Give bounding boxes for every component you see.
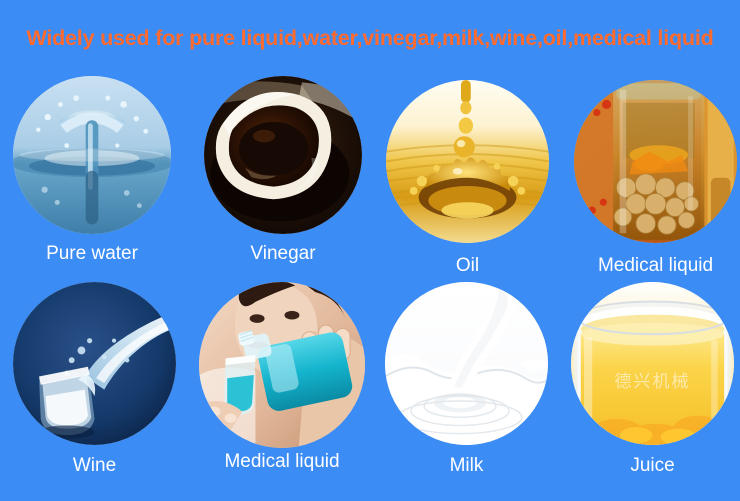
medical-liquid-mouthwash-image [199, 282, 365, 448]
product-cell-medical-liquid-jar: Medical liquid [574, 80, 737, 243]
water-splash-icon [13, 76, 171, 234]
wine-image [13, 282, 176, 445]
banner-headline: Widely used for pure liquid,water,vinega… [0, 28, 740, 50]
caption-wine: Wine [13, 456, 176, 475]
juice-glass-icon [571, 282, 734, 445]
pouring-glass-icon [13, 282, 176, 445]
promo-banner: Widely used for pure liquid,water,vinega… [0, 0, 740, 501]
pure-water-image [13, 76, 171, 234]
product-cell-juice: 德兴机械 Juice [571, 282, 734, 445]
vinegar-image [204, 76, 362, 234]
caption-milk: Milk [385, 456, 548, 475]
caption-medical-liquid-jar: Medical liquid [574, 256, 737, 275]
product-cell-wine: Wine [13, 282, 176, 445]
juice-image: 德兴机械 [571, 282, 734, 445]
mouthwash-bottle-icon [199, 282, 365, 448]
milk-pour-icon [385, 282, 548, 445]
caption-vinegar: Vinegar [204, 244, 362, 263]
product-cell-medical-liquid-mouthwash: Medical liquid [199, 282, 365, 448]
product-cell-oil: Oil [386, 80, 549, 243]
caption-medical-liquid-mouthwash: Medical liquid [199, 452, 365, 471]
caption-juice: Juice [571, 456, 734, 475]
milk-image [385, 282, 548, 445]
herbal-jar-icon [574, 80, 737, 243]
product-cell-milk: Milk [385, 282, 548, 445]
medical-liquid-jar-image [574, 80, 737, 243]
caption-oil: Oil [386, 256, 549, 275]
vinegar-spoon-icon [204, 76, 362, 234]
caption-pure-water: Pure water [13, 244, 171, 263]
product-cell-pure-water: Pure water [13, 76, 171, 234]
oil-drop-crown-icon [386, 80, 549, 243]
product-cell-vinegar: Vinegar [204, 76, 362, 234]
oil-image [386, 80, 549, 243]
